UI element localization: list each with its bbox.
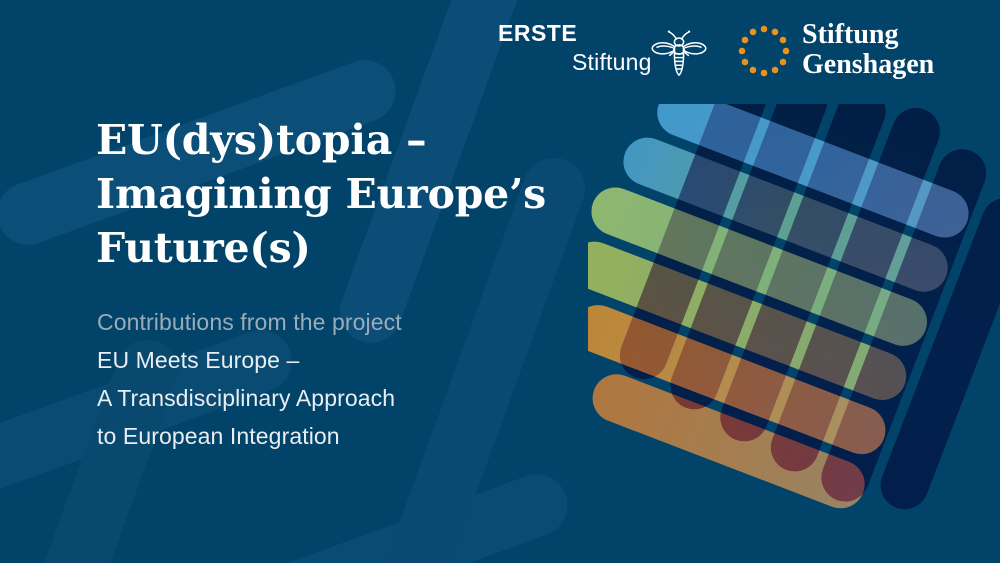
genshagen-logo-line2: Genshagen	[802, 50, 934, 80]
title-line-1: EU(dys)topia –	[96, 113, 566, 167]
erste-logo-line2: Stiftung	[572, 51, 652, 74]
erste-stiftung-logo[interactable]: ERSTE Stiftung	[498, 22, 710, 80]
subtitle-line-2: EU Meets Europe –	[97, 341, 537, 379]
title-line-3: Future(s)	[96, 221, 566, 275]
subtitle-line-1: Contributions from the project	[97, 303, 537, 341]
genshagen-logo-line1: Stiftung	[802, 20, 934, 50]
logo-bar: ERSTE Stiftung	[0, 0, 1000, 96]
stiftung-genshagen-logo[interactable]: Stiftung Genshagen	[737, 20, 952, 82]
slide-canvas: ERSTE Stiftung	[0, 0, 1000, 563]
subtitle-line-4: to European Integration	[97, 417, 537, 455]
bee-icon	[651, 28, 707, 78]
page-subtitle: Contributions from the project EU Meets …	[97, 303, 537, 455]
woven-capsule-lattice-graphic	[588, 104, 1000, 516]
genshagen-logo-text: Stiftung Genshagen	[802, 20, 934, 80]
erste-logo-line1: ERSTE	[498, 22, 577, 45]
title-line-2: Imagining Europe’s	[96, 167, 566, 221]
subtitle-line-3: A Transdisciplinary Approach	[97, 379, 537, 417]
eu-dot-circle-icon	[737, 24, 791, 78]
page-title: EU(dys)topia – Imagining Europe’s Future…	[96, 113, 566, 275]
